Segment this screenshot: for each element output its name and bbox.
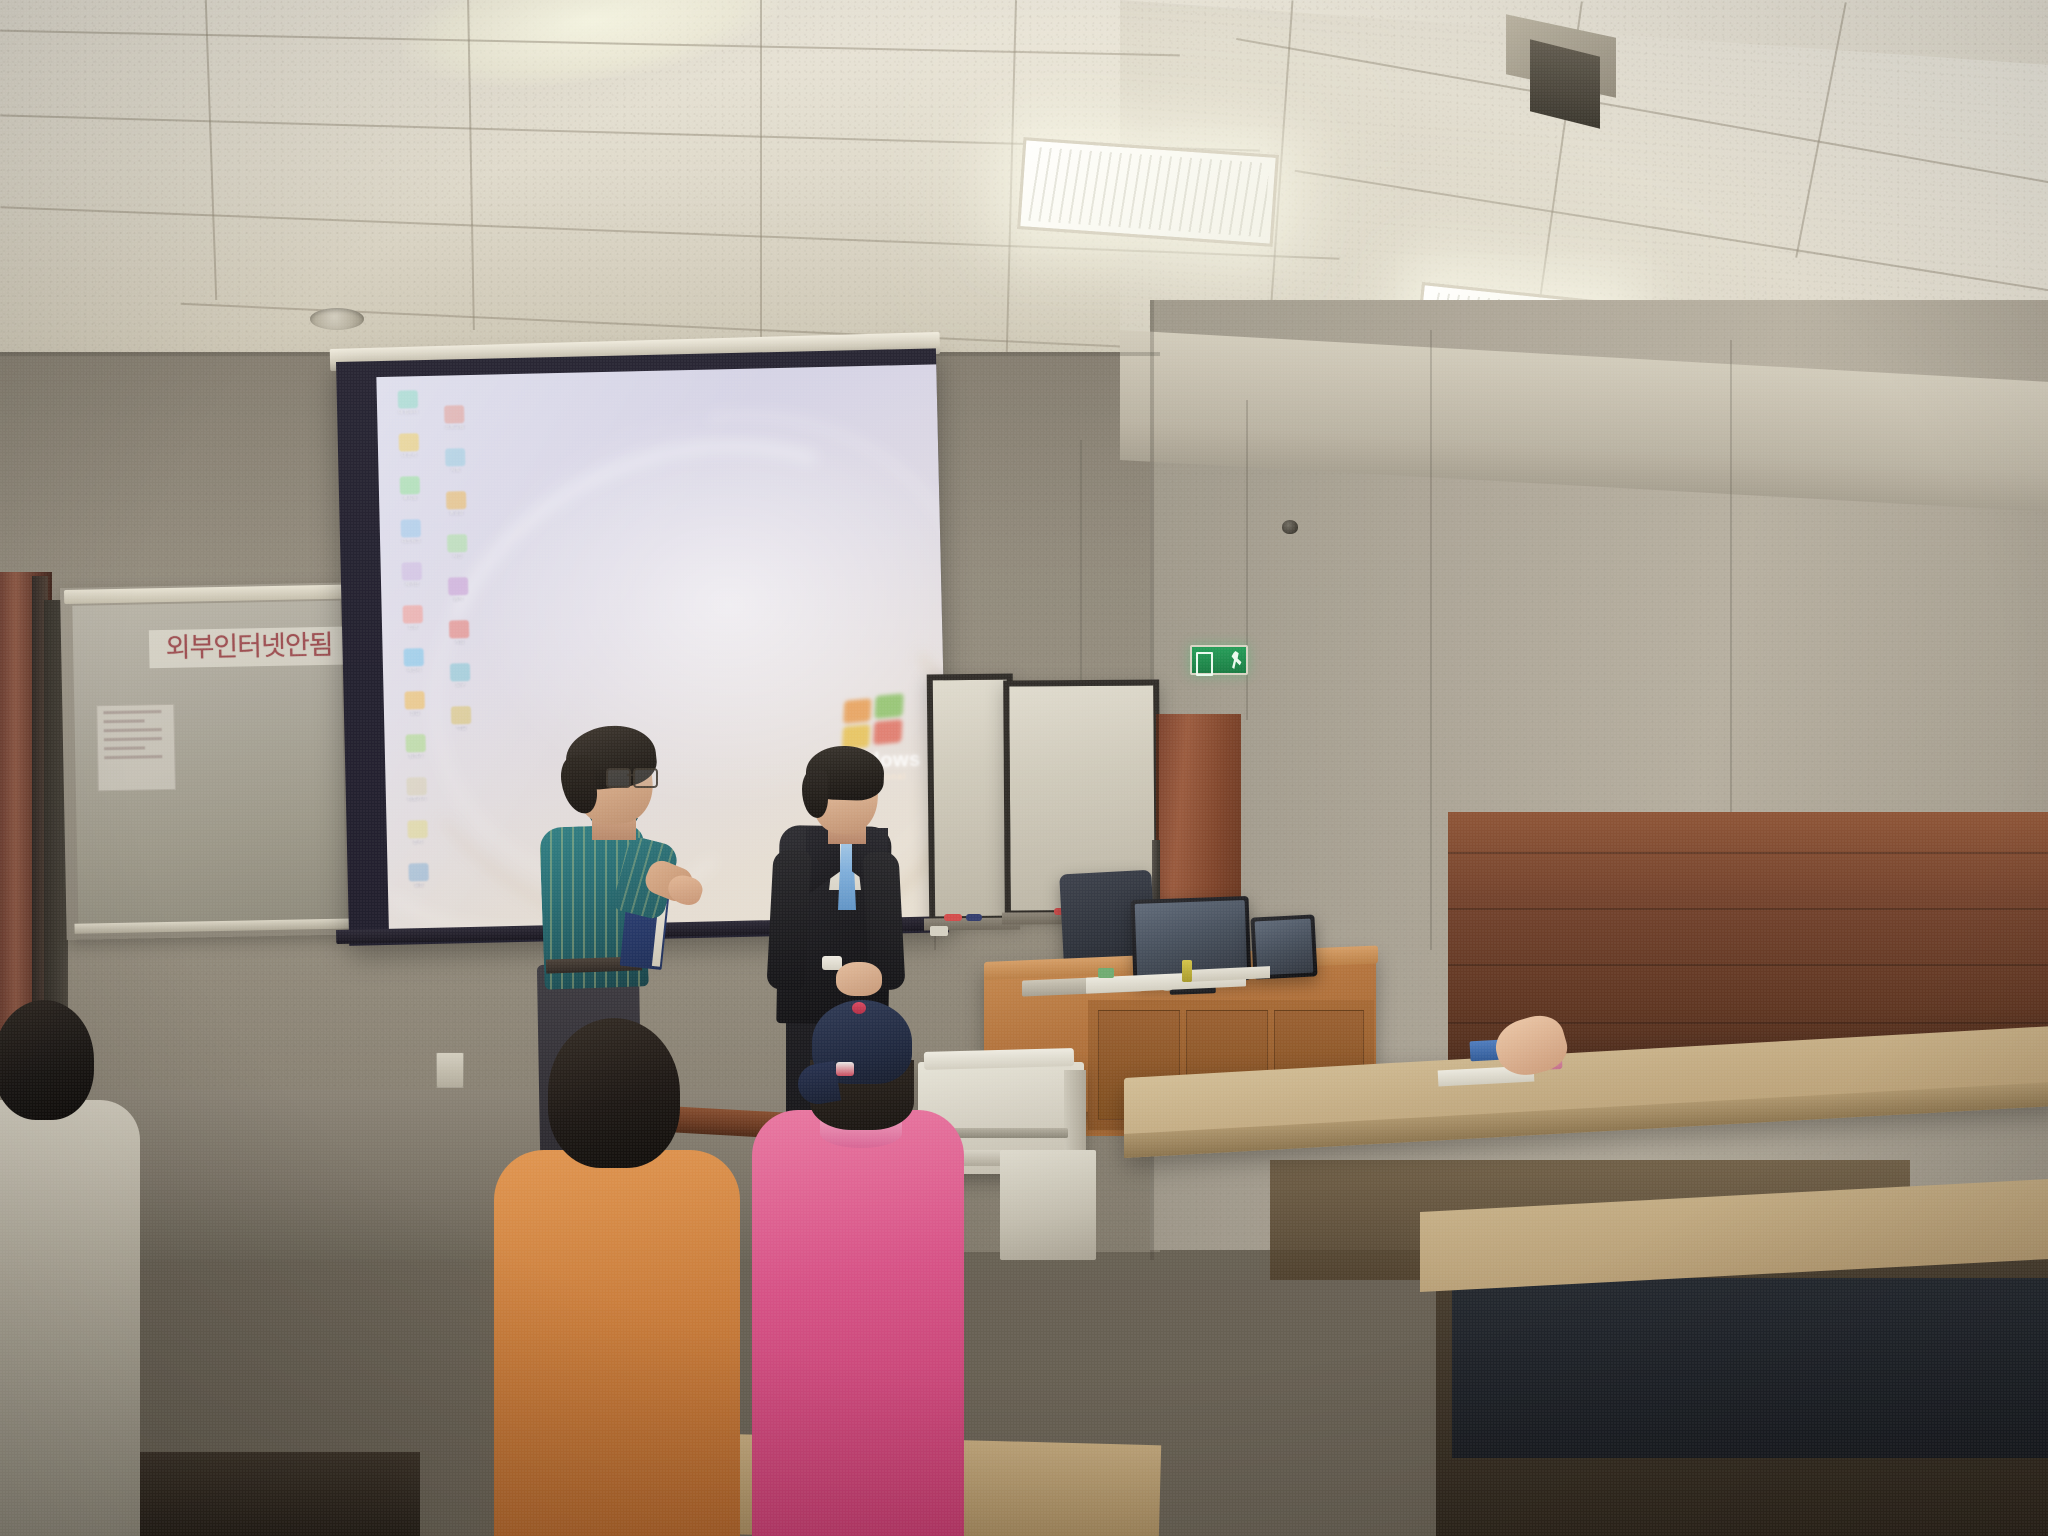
presenter-suit-hands — [836, 962, 882, 996]
audience-left-head — [0, 1000, 94, 1120]
seminar-room-photo: 외부인터넷안됨 내 컴퓨터내 문서휴지통네트워크제어판한글메신저알집탐색기바로가… — [0, 0, 2048, 1536]
audience-center-head — [548, 1018, 680, 1168]
ceiling-light-panel — [1017, 137, 1279, 247]
red-marker-icon[interactable] — [944, 914, 962, 921]
ceiling-downlight — [310, 308, 364, 330]
left-whiteboard: 외부인터넷안됨 — [60, 582, 359, 940]
glasses-icon — [606, 768, 654, 786]
audience-chairs — [1452, 1278, 2048, 1458]
right-whiteboard-left-panel — [927, 674, 1016, 923]
notice-line — [104, 755, 162, 759]
wall-seam — [1430, 330, 1432, 950]
exit-door-icon — [1196, 652, 1213, 676]
light-switch-plate[interactable] — [436, 1052, 464, 1088]
eraser-icon[interactable] — [930, 926, 948, 936]
whiteboard-surface: 외부인터넷안됨 — [72, 601, 346, 928]
notice-line — [104, 746, 145, 750]
green-sticky-note[interactable] — [1098, 968, 1114, 978]
security-camera-icon — [1282, 520, 1298, 534]
notice-line — [104, 728, 162, 732]
mlb-logo-icon — [836, 1062, 854, 1076]
blue-marker-icon[interactable] — [966, 914, 982, 921]
audience-left-body — [0, 1100, 140, 1536]
marker-on-podium[interactable] — [1182, 960, 1192, 982]
presenter-suit-arm — [766, 849, 811, 991]
audience-cap-body — [752, 1110, 964, 1536]
printer-lid — [924, 1048, 1074, 1070]
desktop-computer-tower — [1000, 1150, 1096, 1260]
notice-line — [104, 737, 162, 741]
cap-button-icon — [852, 1002, 866, 1014]
korean-notice-text: 외부인터넷안됨 — [149, 626, 350, 668]
audience-center-body — [494, 1150, 740, 1536]
light-grille — [1027, 147, 1270, 237]
exit-running-man-icon — [1231, 651, 1242, 669]
exit-sign — [1190, 645, 1248, 675]
ceiling-tile-line — [760, 0, 762, 350]
notice-line — [103, 710, 161, 714]
notice-line — [104, 719, 145, 723]
korean-notice-banner: 외부인터넷안됨 — [149, 626, 350, 668]
posted-notice-paper — [96, 704, 176, 791]
